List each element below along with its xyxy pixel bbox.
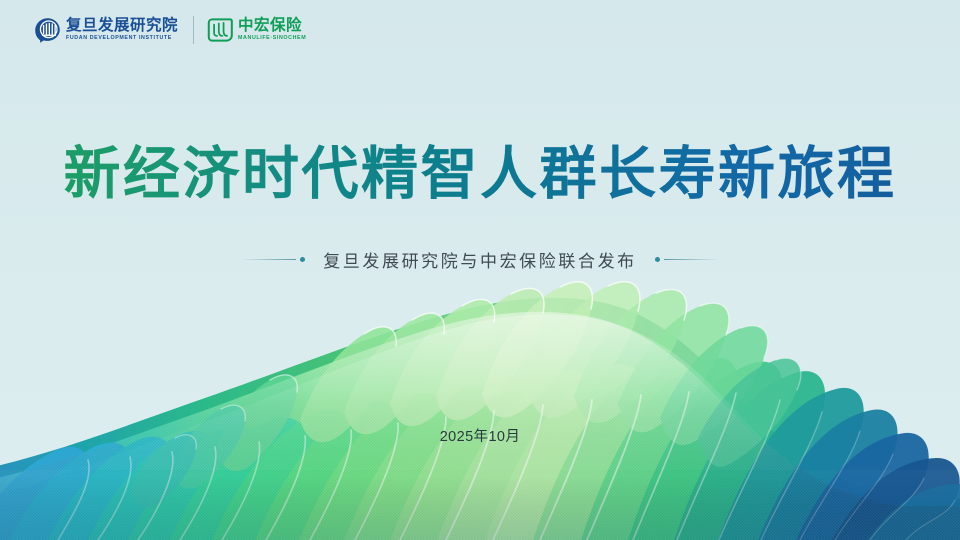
subtitle-decoration-right (651, 257, 716, 262)
page-title: 新经济时代精智人群长寿新旅程 (0, 143, 960, 207)
deco-dot-right-icon (655, 257, 660, 262)
manulife-logo-text: 中宏保险 MANULIFE·SINOCHEM (238, 18, 306, 41)
manulife-name-cn: 中宏保险 (238, 18, 306, 34)
manulife-sinochem-emblem-icon (207, 17, 233, 43)
fold-highlights (58, 282, 955, 540)
deco-line-left-icon (244, 259, 296, 260)
publication-date: 2025年10月 (0, 425, 960, 446)
deco-line-right-icon (664, 259, 716, 260)
wave-crest-glow (0, 314, 960, 512)
subtitle-row: 复旦发展研究院与中宏保险联合发布 (0, 247, 960, 272)
fudan-name-en: FUDAN DEVELOPMENT INSTITUTE (66, 36, 178, 41)
fudan-name-cn: 复旦发展研究院 (66, 18, 178, 34)
logo-bar: 复旦发展研究院 FUDAN DEVELOPMENT INSTITUTE 中宏保险… (34, 16, 306, 44)
page-subtitle: 复旦发展研究院与中宏保险联合发布 (323, 247, 637, 272)
deco-dot-left-icon (300, 257, 305, 262)
fudan-emblem-icon (34, 17, 61, 44)
manulife-logo: 中宏保险 MANULIFE·SINOCHEM (207, 17, 306, 43)
crest-petals (130, 282, 801, 508)
fudan-logo-text: 复旦发展研究院 FUDAN DEVELOPMENT INSTITUTE (66, 18, 178, 41)
fudan-logo: 复旦发展研究院 FUDAN DEVELOPMENT INSTITUTE (34, 17, 178, 44)
subtitle-decoration-left (244, 257, 309, 262)
logo-divider (193, 16, 194, 44)
wave-base-mass (0, 298, 960, 540)
manulife-name-en: MANULIFE·SINOCHEM (238, 36, 306, 41)
presentation-slide: 复旦发展研究院 FUDAN DEVELOPMENT INSTITUTE 中宏保险… (0, 0, 960, 540)
ribbon-sheets (0, 358, 960, 540)
